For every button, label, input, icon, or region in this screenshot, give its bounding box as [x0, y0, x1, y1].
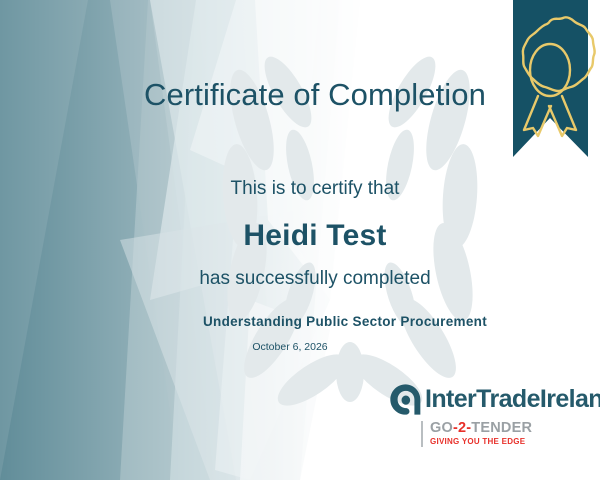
programme-name: GO-2-TENDER [430, 421, 600, 436]
logo-programme-block: GO-2-TENDER GIVING YOU THE EDGE [421, 421, 600, 447]
certificate-page: Certificate of Completion This is to cer… [0, 0, 600, 480]
logo-tagline: GIVING YOU THE EDGE [430, 437, 600, 447]
page-title: Certificate of Completion [120, 77, 510, 113]
certify-statement: This is to certify that [120, 178, 510, 200]
recipient-name: Heidi Test [120, 219, 510, 253]
logo-primary-row: InterTradeIreland [389, 383, 600, 416]
course-name: Understanding Public Sector Procurement [150, 314, 540, 329]
intertradeireland-spiral-icon [389, 383, 422, 416]
logo-wordmark: InterTradeIreland [425, 387, 600, 412]
issue-date: October 6, 2026 [150, 341, 430, 353]
programme-word-tender: TENDER [471, 420, 532, 436]
programme-word-go: GO [430, 420, 453, 436]
intertradeireland-logo: InterTradeIreland GO-2-TENDER GIVING YOU… [389, 383, 600, 447]
completion-statement: has successfully completed [120, 268, 510, 290]
